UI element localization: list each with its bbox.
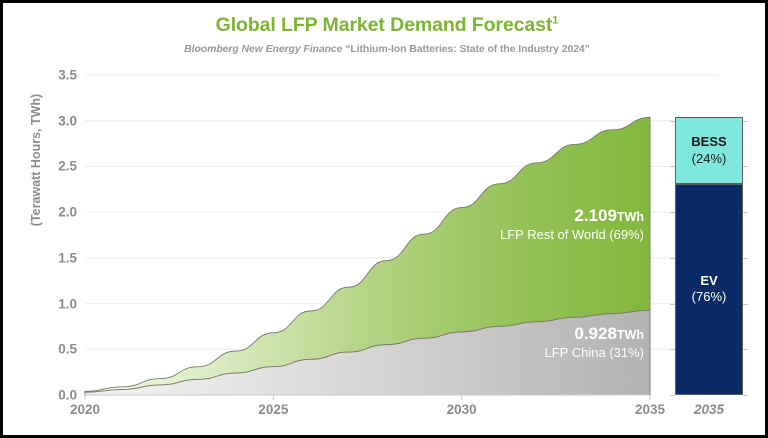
y-axis-tick-0.0: 0.0 [35,388,77,403]
bar-x-axis-tick-2035: 2035 [694,402,724,417]
bar-segment-bess: BESS (24%) [675,117,743,184]
bar-axis-tick [743,212,748,213]
annotation-china: 0.928TWh LFP China (31%) [545,324,644,360]
x-axis-tick-2030: 2030 [447,402,477,417]
bar-axis-tick [743,121,748,122]
x-axis-tick-marks [85,395,650,400]
bar-segment-ev: EV (76%) [675,184,743,395]
area-chart-plot [3,3,768,438]
y-axis-tick-2.5: 2.5 [35,159,77,174]
annotation-rest-of-world: 2.109TWh LFP Rest of World (69%) [500,206,644,242]
bar-segment-bess-name: BESS [691,134,726,150]
bar-axis-tick [743,349,748,350]
annotation-china-label: LFP China (31%) [545,345,644,360]
y-axis-ticks: 3.53.02.52.01.51.00.50.0 [29,3,77,438]
bar-axis-tick [670,395,675,396]
bar-axis-tick [670,212,675,213]
annotation-rest-of-world-label: LFP Rest of World (69%) [500,227,644,242]
y-axis-tick-0.5: 0.5 [35,342,77,357]
y-axis-tick-3.0: 3.0 [35,113,77,128]
annotation-china-unit: TWh [617,328,644,342]
x-axis-tick-2020: 2020 [70,402,100,417]
stacked-bar-2035: BESS (24%) EV (76%) 2035 [675,3,765,438]
bar-axis-tick [670,258,675,259]
chart-figure: Global LFP Market Demand Forecast1 Bloom… [0,0,768,438]
bar-axis-tick [743,395,748,396]
bar-segment-ev-name: EV [700,273,717,289]
bar-axis-tick [670,166,675,167]
y-axis-tick-2.0: 2.0 [35,205,77,220]
bar-axis-tick [743,304,748,305]
x-axis-tick-2025: 2025 [258,402,288,417]
bar-axis-tick [670,121,675,122]
bar-axis-tick [743,258,748,259]
bar-axis-tick [670,304,675,305]
annotation-rest-of-world-unit: TWh [617,210,644,224]
y-axis-tick-1.0: 1.0 [35,296,77,311]
bar-segment-ev-pct: (76%) [692,289,727,305]
x-axis-tick-2035: 2035 [635,402,665,417]
y-axis-tick-1.5: 1.5 [35,250,77,265]
bar-axis-tick [743,166,748,167]
annotation-china-value: 0.928 [574,324,617,343]
bar-axis-tick [670,349,675,350]
y-axis-tick-3.5: 3.5 [35,68,77,83]
annotation-rest-of-world-value: 2.109 [574,206,617,225]
bar-segment-bess-pct: (24%) [692,151,727,167]
